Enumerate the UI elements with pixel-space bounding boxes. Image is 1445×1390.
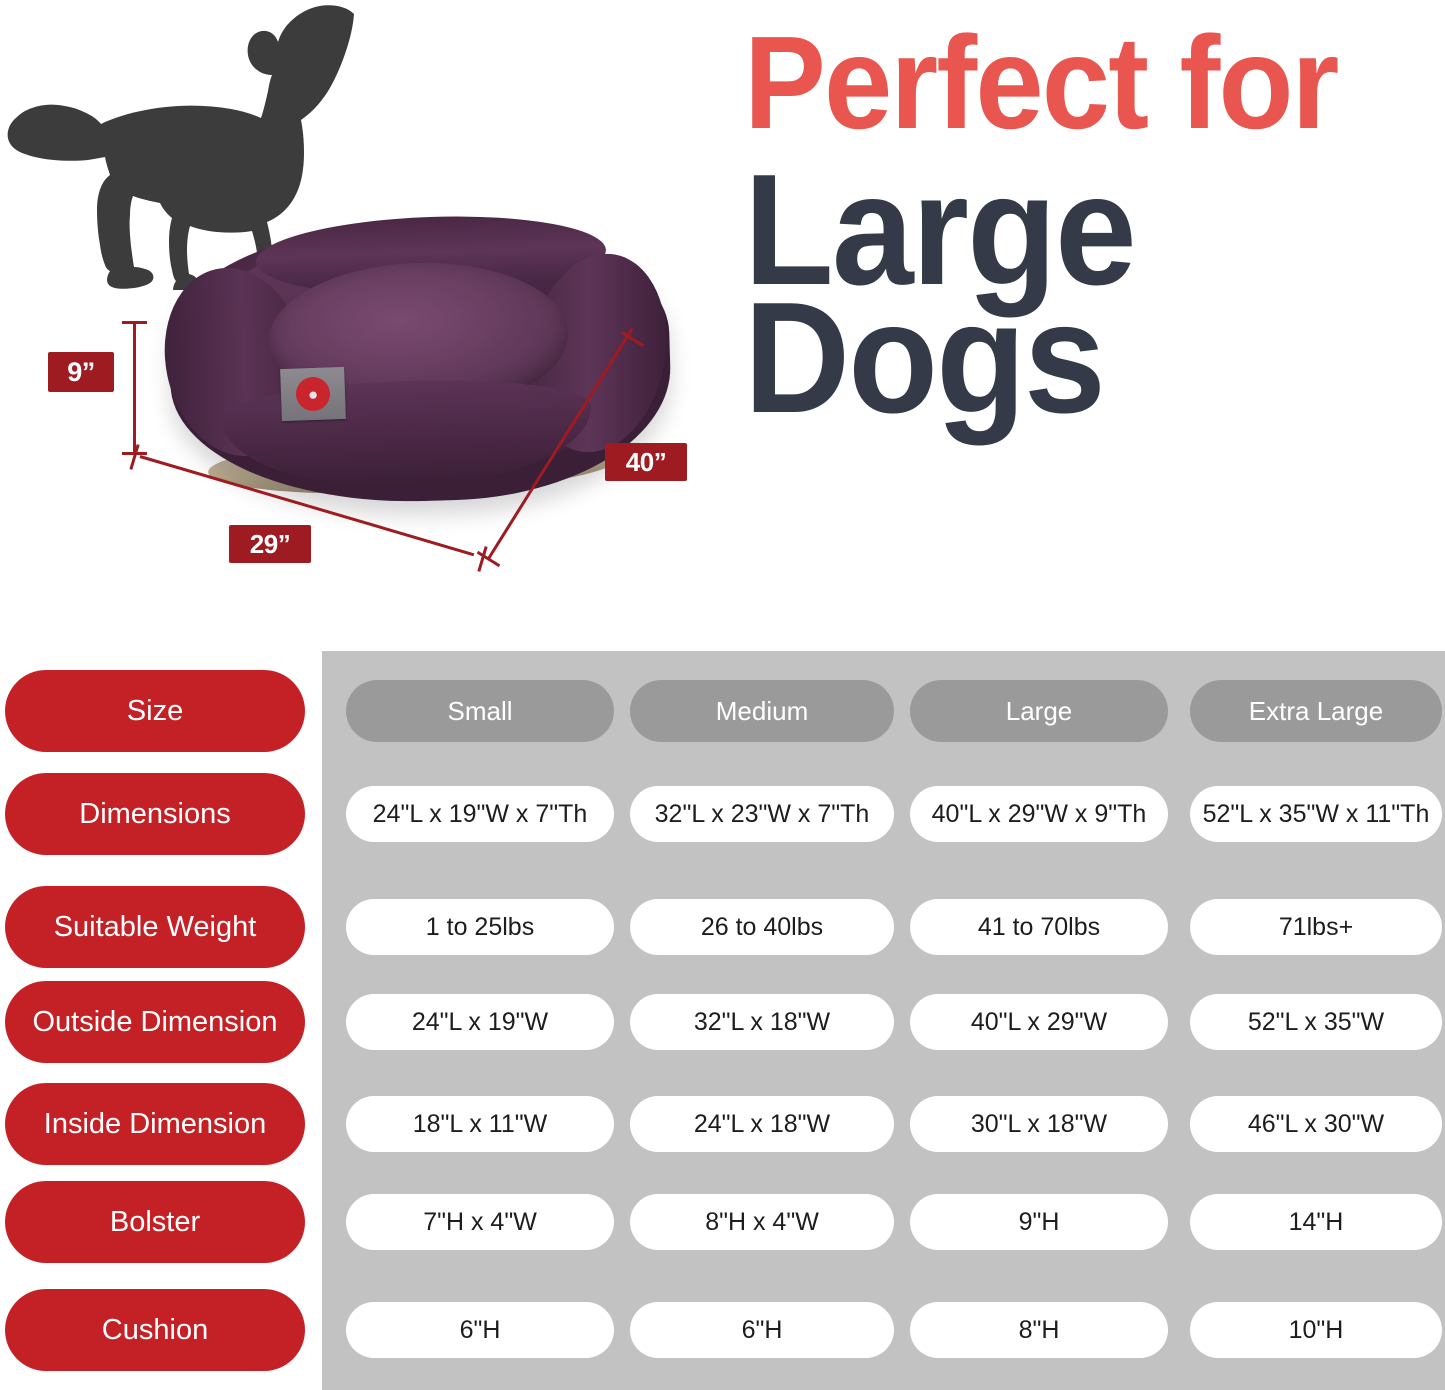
headline-block: Perfect for Large Dogs: [744, 24, 1444, 429]
table-cell: 18"L x 11"W: [346, 1096, 614, 1152]
headline-line-1: Perfect for: [744, 24, 1395, 143]
table-cell: 26 to 40lbs: [630, 899, 894, 955]
table-cell: 10"H: [1190, 1302, 1442, 1358]
table-cell: 24"L x 19"W: [346, 994, 614, 1050]
table-cell: 32"L x 23"W x 7"Th: [630, 786, 894, 842]
column-header-extra-large: Extra Large: [1190, 680, 1442, 742]
size-spec-table: SizeDimensionsSuitable WeightOutside Dim…: [0, 651, 1445, 1390]
table-cell: 24"L x 18"W: [630, 1096, 894, 1152]
table-cell: 52"L x 35"W x 11"Th: [1190, 786, 1442, 842]
table-cell: 9"H: [910, 1194, 1168, 1250]
table-cell: 8"H: [910, 1302, 1168, 1358]
table-cell: 7"H x 4"W: [346, 1194, 614, 1250]
table-cell: 52"L x 35"W: [1190, 994, 1442, 1050]
table-cell: 8"H x 4"W: [630, 1194, 894, 1250]
table-cell: 40"L x 29"W: [910, 994, 1168, 1050]
table-cell: 41 to 70lbs: [910, 899, 1168, 955]
hero-section: ● 9” 29” 40” Perfect for Large Dogs: [0, 0, 1445, 650]
row-label-cushion: Cushion: [5, 1289, 305, 1371]
row-label-bolster: Bolster: [5, 1181, 305, 1263]
height-dimension-label: 9”: [48, 352, 114, 392]
column-header-medium: Medium: [630, 680, 894, 742]
table-cell: 1 to 25lbs: [346, 899, 614, 955]
value-cell-grid: SmallMediumLargeExtra Large24"L x 19"W x…: [322, 651, 1445, 1390]
infographic-page: ● 9” 29” 40” Perfect for Large Dogs Size…: [0, 0, 1445, 1390]
row-label-dimensions: Dimensions: [5, 773, 305, 855]
row-label-inside-dimension: Inside Dimension: [5, 1083, 305, 1165]
table-cell: 14"H: [1190, 1194, 1442, 1250]
width-dimension-label: 29”: [229, 525, 311, 563]
row-label-size: Size: [5, 670, 305, 752]
table-cell: 6"H: [346, 1302, 614, 1358]
row-label-suitable-weight: Suitable Weight: [5, 886, 305, 968]
table-cell: 24"L x 19"W x 7"Th: [346, 786, 614, 842]
width-measure-cap-start: [129, 444, 139, 470]
table-cell: 32"L x 18"W: [630, 994, 894, 1050]
table-cell: 30"L x 18"W: [910, 1096, 1168, 1152]
product-photo-dog-bed: ●: [160, 205, 680, 520]
brand-tag-majestic-pet: ●: [280, 367, 346, 421]
table-cell: 71lbs+: [1190, 899, 1442, 955]
height-measure-line: [133, 322, 136, 454]
length-dimension-label: 40”: [605, 443, 687, 481]
table-cell: 40"L x 29"W x 9"Th: [910, 786, 1168, 842]
brand-logo-circle: ●: [295, 376, 330, 411]
row-label-outside-dimension: Outside Dimension: [5, 981, 305, 1063]
paw-print-icon: ●: [308, 385, 319, 402]
table-cell: 46"L x 30"W: [1190, 1096, 1442, 1152]
headline-line-3: Dogs: [744, 287, 1395, 429]
table-cell: 6"H: [630, 1302, 894, 1358]
column-header-small: Small: [346, 680, 614, 742]
column-header-large: Large: [910, 680, 1168, 742]
row-label-column: SizeDimensionsSuitable WeightOutside Dim…: [0, 651, 322, 1390]
